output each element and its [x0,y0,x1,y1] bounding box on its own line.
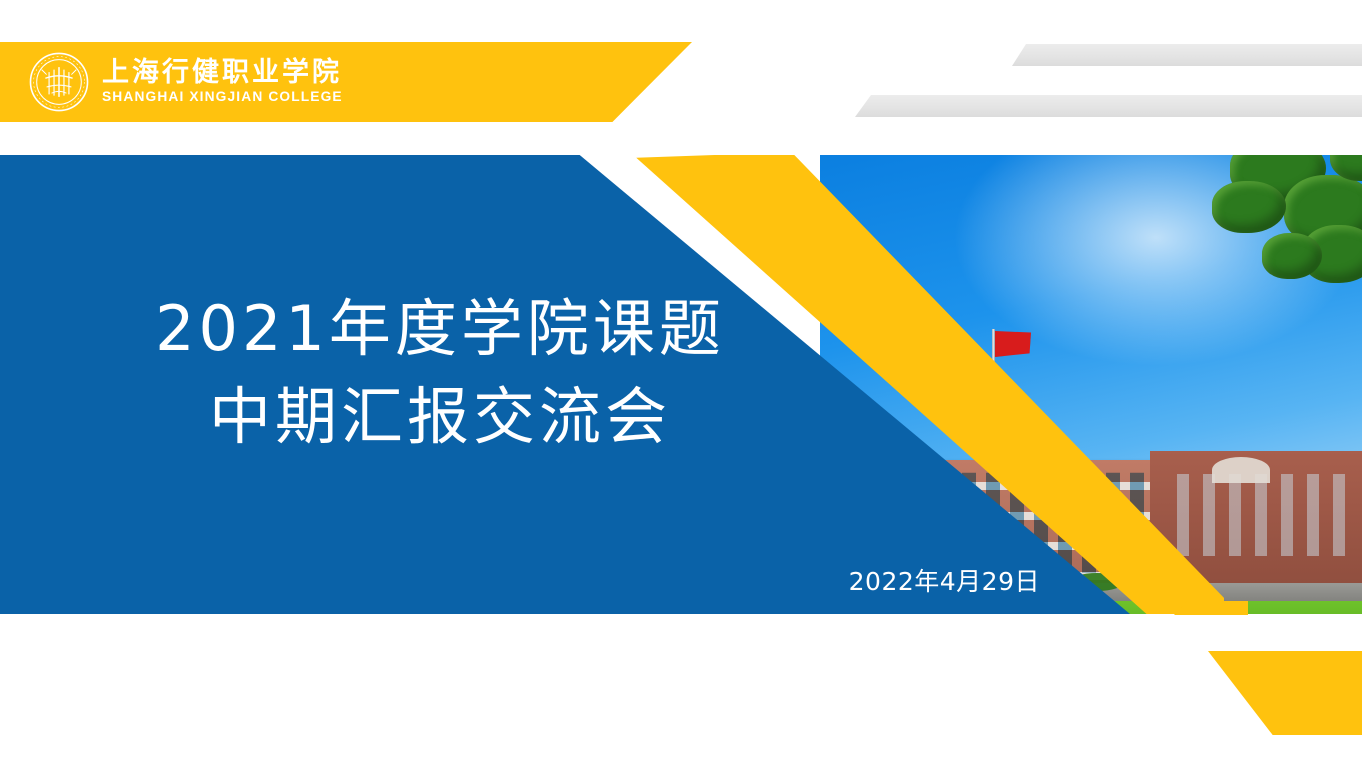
tree-canopy-icon [1134,155,1362,319]
slide-date: 2022年4月29日 [0,562,1040,598]
logo-name-en: SHANGHAI XINGJIAN COLLEGE [102,89,347,105]
title-line-1: 2021年度学院课题 [0,285,880,373]
header-band: 上海行健职业学院 SHANGHAI XINGJIAN COLLEGE [0,42,692,122]
college-logo: 上海行健职业学院 SHANGHAI XINGJIAN COLLEGE [28,51,342,113]
title-line-2: 中期汇报交流会 [0,373,880,461]
college-seal-icon [28,51,90,113]
slide-title: 2021年度学院课题 中期汇报交流会 [0,285,880,461]
roof-arch [1212,457,1270,483]
decorative-grey-bar-second [855,95,1362,117]
logo-name-cn: 上海行健职业学院 [102,59,342,87]
national-flag-icon [995,331,1031,357]
bottom-yellow-shape [1208,651,1362,735]
decorative-grey-bar-top [1012,44,1362,66]
logo-text: 上海行健职业学院 SHANGHAI XINGJIAN COLLEGE [102,59,342,106]
title-slide: 上海行健职业学院 SHANGHAI XINGJIAN COLLEGE [0,0,1362,767]
